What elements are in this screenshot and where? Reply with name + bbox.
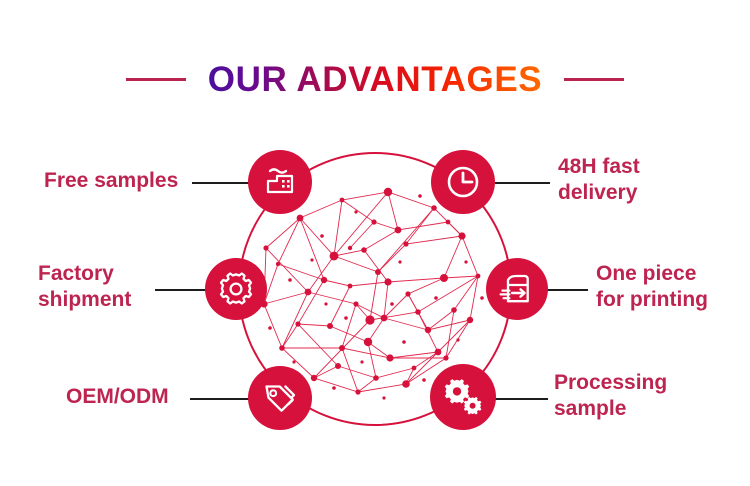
advantage-label-one-piece-printing: One piece for printing (596, 261, 746, 312)
shipping-box-arrow-icon (499, 272, 535, 306)
advantage-label-fast-delivery: 48H fast delivery (558, 154, 718, 205)
page-title-row: OUR ADVANTAGES (0, 56, 750, 102)
advantage-icon-free-samples[interactable] (248, 150, 312, 214)
title-divider-right (564, 78, 624, 81)
advantage-icon-factory-shipment[interactable] (205, 258, 267, 320)
advantage-icon-processing-sample[interactable] (430, 364, 496, 430)
clock-icon (445, 164, 481, 200)
page-title: OUR ADVANTAGES (208, 62, 542, 97)
advantage-label-factory-shipment: Factory shipment (38, 261, 168, 312)
advantage-icon-one-piece-printing[interactable] (486, 258, 548, 320)
advantage-icon-fast-delivery[interactable] (431, 150, 495, 214)
gear-icon (218, 271, 254, 307)
advantage-icon-oem-odm[interactable] (248, 366, 312, 430)
infographic-canvas: OUR ADVANTAGES (0, 0, 750, 486)
double-gears-icon (443, 378, 483, 416)
factory-icon (263, 165, 297, 199)
advantage-label-processing-sample: Processing sample (554, 370, 724, 421)
price-tags-icon (262, 380, 298, 416)
title-divider-left (126, 78, 186, 81)
advantage-label-free-samples: Free samples (44, 168, 189, 194)
advantage-label-oem-odm: OEM/ODM (66, 384, 201, 410)
